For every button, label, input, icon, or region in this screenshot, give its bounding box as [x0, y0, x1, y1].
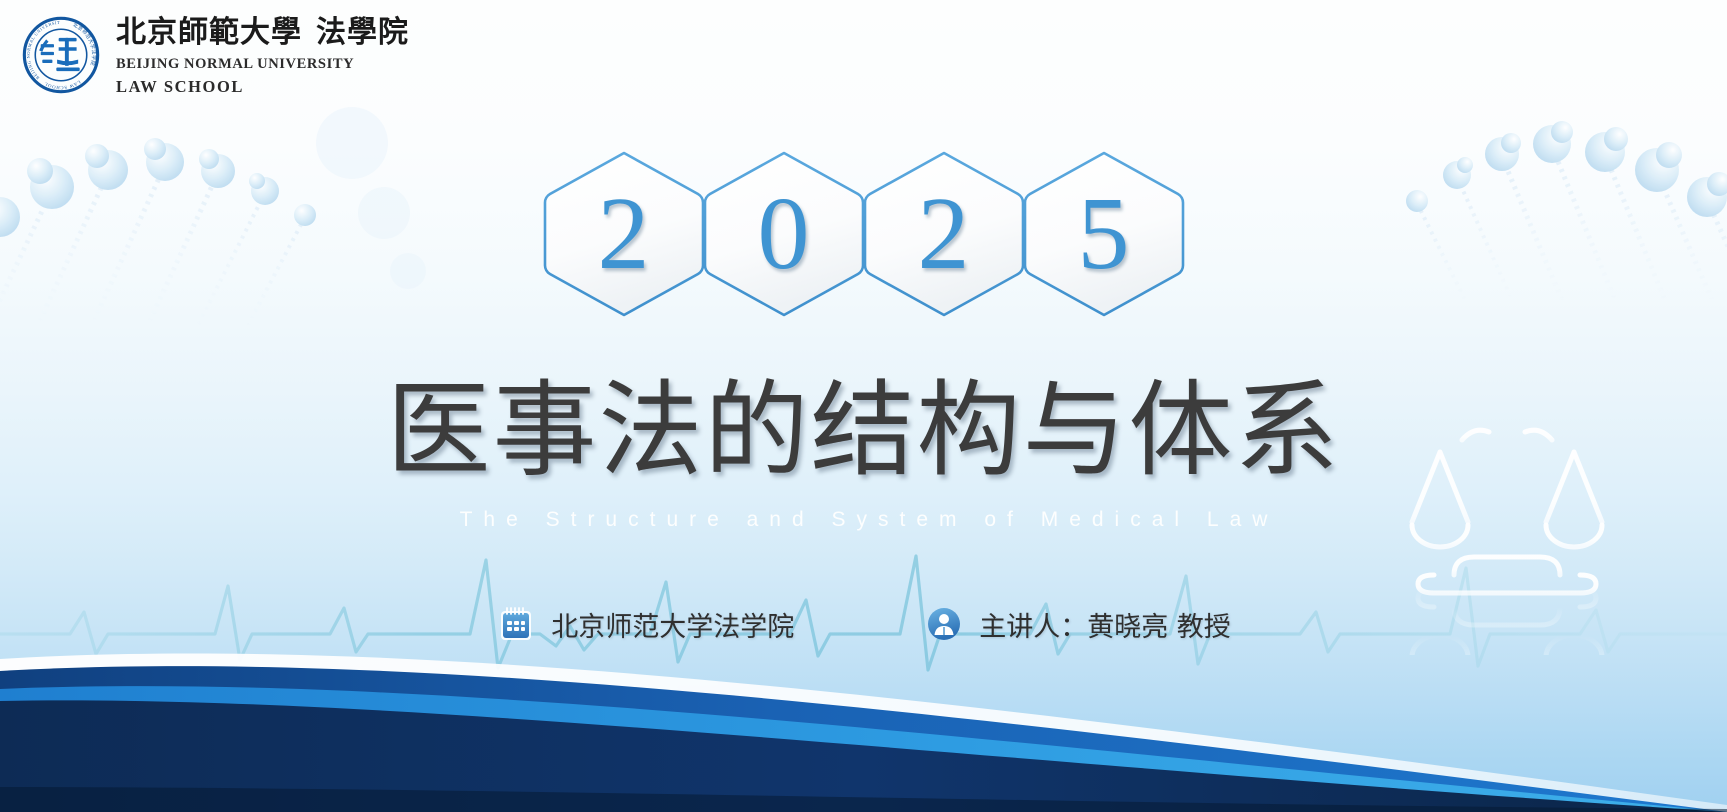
page-title: 医事法的结构与体系 [0, 372, 1727, 488]
brand-logo: 北京师范大学法学院 LAW SCHOOL BEIJING NORMAL UNIV… [22, 14, 409, 95]
year-digit: 2 [598, 182, 650, 286]
meta-label-organization: 北京师范大学法学院 [551, 605, 794, 644]
brand-name-en-line1: BEIJING NORMAL UNIVERSITY [116, 57, 409, 72]
year-digit: 0 [758, 182, 810, 286]
slide-root: 北京师范大学法学院 LAW SCHOOL BEIJING NORMAL UNIV… [0, 0, 1727, 812]
year-hexagon-3: 2 [858, 148, 1030, 320]
bottom-wave-shape [0, 637, 1727, 812]
year-hexagon-4: 5 [1018, 148, 1190, 320]
meta-item-presenter: 主讲人：黄晓亮 教授 [924, 604, 1231, 644]
meta-label-presenter: 主讲人：黄晓亮 教授 [979, 605, 1231, 644]
year-digit: 5 [1078, 182, 1130, 286]
page-subtitle: The Structure and System of Medical Law [0, 508, 1727, 532]
brand-name-en-line2: LAW SCHOOL [116, 79, 409, 96]
footer-meta: 北京师范大学法学院 主讲人：黄晓亮 教授 [0, 604, 1727, 644]
brand-text: 北京師範大學法學院 BEIJING NORMAL UNIVERSITY LAW … [116, 14, 409, 95]
year-digit: 2 [918, 182, 970, 286]
brand-name-cn: 北京師範大學法學院 [116, 18, 409, 48]
presenter-icon [924, 604, 964, 644]
year-hexagon-2: 0 [698, 148, 870, 320]
meta-item-organization: 北京师范大学法学院 [496, 604, 794, 644]
bnu-law-school-seal-icon: 北京师范大学法学院 LAW SCHOOL BEIJING NORMAL UNIV… [22, 16, 100, 94]
year-hexagons: 2 0 2 5 [0, 148, 1727, 320]
calendar-icon [496, 604, 536, 644]
year-hexagon-1: 2 [538, 148, 710, 320]
